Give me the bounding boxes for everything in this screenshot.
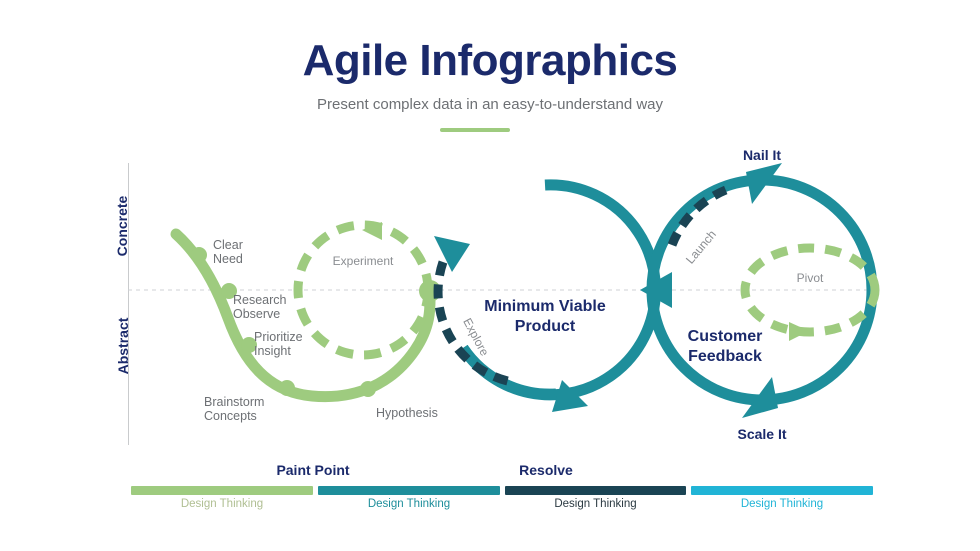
label-scale-it: Scale It	[712, 426, 812, 442]
curve-node-brainstorm-concepts	[279, 380, 295, 396]
legend-heading-resolve: Resolve	[476, 462, 616, 478]
legend-bar-2[interactable]	[318, 486, 500, 495]
legend-caption-4: Design Thinking	[691, 498, 873, 510]
label-pivot: Pivot	[770, 271, 850, 285]
label-brainstorm-concepts: Brainstorm Concepts	[204, 395, 314, 424]
curve-node-hypothesis	[360, 381, 376, 397]
infographic-canvas: Agile Infographics Present complex data …	[0, 0, 980, 551]
legend-caption-2: Design Thinking	[318, 498, 500, 510]
label-clear-need: Clear Need	[213, 238, 293, 267]
legend-heading-paint-point: Paint Point	[243, 462, 383, 478]
label-hypothesis: Hypothesis	[376, 406, 476, 420]
curve-node-clear-need	[191, 247, 207, 263]
legend-bar-4[interactable]	[691, 486, 873, 495]
label-research-observe: Research Observe	[233, 293, 343, 322]
legend-caption-3: Design Thinking	[505, 498, 686, 510]
legend-bar-3[interactable]	[505, 486, 686, 495]
label-prioritize-insight: Prioritize Insight	[254, 330, 354, 359]
legend-caption-1: Design Thinking	[131, 498, 313, 510]
label-customer-feedback: Customer Feedback	[650, 327, 800, 367]
label-nail-it: Nail It	[712, 147, 812, 163]
legend-bar-1[interactable]	[131, 486, 313, 495]
label-experiment: Experiment	[313, 254, 413, 268]
